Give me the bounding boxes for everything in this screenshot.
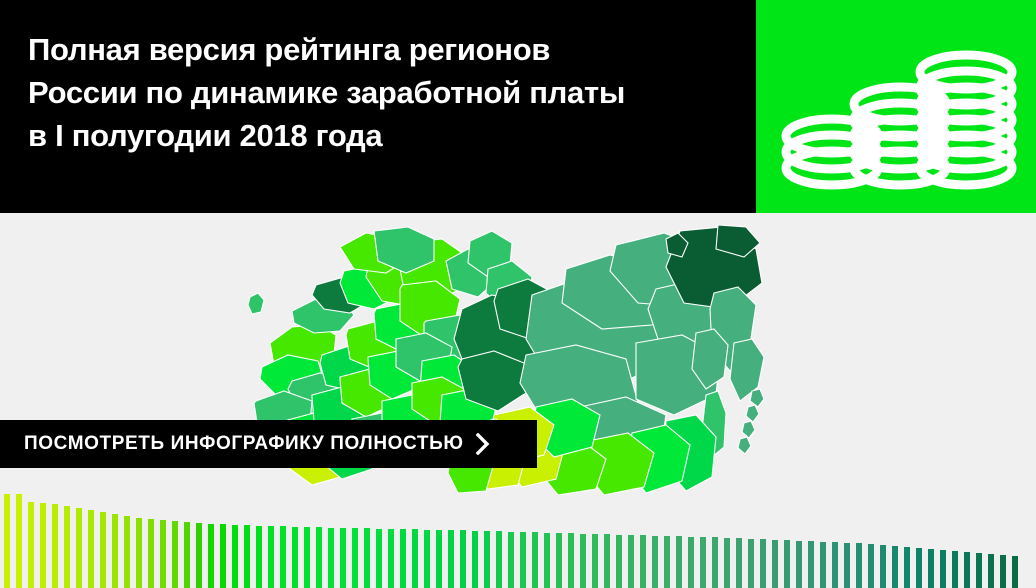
chart-bar: [280, 526, 286, 588]
chart-bar: [172, 521, 178, 588]
chart-bar: [232, 525, 238, 588]
chart-bar: [544, 533, 550, 588]
chart-bar: [88, 510, 94, 588]
chart-bar: [616, 535, 622, 588]
promo-card: Полная версия рейтинга регионов России п…: [0, 0, 1036, 588]
chart-bar: [808, 541, 814, 588]
chart-bar: [736, 538, 742, 588]
chart-bar: [4, 494, 10, 588]
chart-bar: [628, 535, 634, 588]
chart-bar: [796, 541, 802, 588]
page-title: Полная версия рейтинга регионов России п…: [28, 28, 728, 157]
chart-bar: [124, 516, 130, 588]
chart-bar: [292, 527, 298, 588]
chart-bar: [532, 532, 538, 588]
chart-bar: [1000, 555, 1006, 588]
chart-bar: [328, 528, 334, 588]
chart-bar: [184, 522, 190, 588]
chart-bar: [400, 529, 406, 588]
chart-bar: [100, 512, 106, 588]
chart-bar: [748, 539, 754, 588]
chart-bar: [508, 532, 514, 588]
chart-bar: [916, 548, 922, 588]
chart-bar: [724, 538, 730, 588]
chart-bar: [352, 528, 358, 588]
chart-bar: [892, 546, 898, 588]
chart-bar: [364, 528, 370, 588]
chart-bar: [316, 527, 322, 588]
chart-bar: [988, 554, 994, 588]
chart-bar: [712, 537, 718, 588]
chart-bar: [760, 539, 766, 588]
chart-bar: [304, 527, 310, 588]
ranking-bar-chart: [0, 480, 1036, 588]
view-full-infographic-button[interactable]: ПОСМОТРЕТЬ ИНФОГРАФИКУ ПОЛНОСТЬЮ: [0, 420, 537, 468]
chart-bar: [868, 544, 874, 588]
chart-bar: [952, 551, 958, 588]
header: Полная версия рейтинга регионов России п…: [0, 0, 1036, 213]
chart-bar: [436, 530, 442, 588]
chart-bar: [688, 537, 694, 588]
chart-bar: [472, 531, 478, 588]
chart-bar: [520, 532, 526, 588]
chart-bar: [772, 540, 778, 588]
chart-bar: [148, 519, 154, 588]
chart-bar: [556, 533, 562, 588]
chevron-right-icon: [476, 433, 490, 455]
chart-bar: [244, 525, 250, 588]
chart-bar: [28, 502, 34, 588]
chart-bar: [136, 518, 142, 588]
chart-bar: [388, 529, 394, 588]
chart-bar: [664, 536, 670, 588]
chart-bar: [412, 529, 418, 588]
chart-bar: [700, 537, 706, 588]
chart-bar: [448, 530, 454, 588]
chart-bar: [64, 506, 70, 588]
chart-bar: [784, 540, 790, 588]
chart-bar: [1012, 556, 1018, 588]
chart-bar: [52, 504, 58, 588]
chart-bar: [976, 553, 982, 588]
chart-bar: [940, 550, 946, 588]
chart-bar: [268, 526, 274, 588]
chart-bar: [580, 534, 586, 588]
chart-bar: [160, 520, 166, 588]
chart-bar: [40, 503, 46, 588]
chart-bar: [340, 528, 346, 588]
chart-bar: [376, 529, 382, 588]
chart-bar: [424, 530, 430, 588]
chart-bar: [832, 542, 838, 588]
chart-bar: [676, 536, 682, 588]
russia-map: ПОСМОТРЕТЬ ИНФОГРАФИКУ ПОЛНОСТЬЮ: [0, 213, 1036, 495]
chart-bar: [496, 531, 502, 588]
chart-bar: [568, 533, 574, 588]
chart-bar: [904, 547, 910, 588]
chart-bar: [16, 494, 22, 588]
chart-bar: [592, 534, 598, 588]
chart-bar: [820, 542, 826, 588]
chart-bar: [256, 526, 262, 588]
chart-bar: [928, 549, 934, 588]
chart-bar: [640, 535, 646, 588]
chart-bar: [112, 514, 118, 588]
cta-label: ПОСМОТРЕТЬ ИНФОГРАФИКУ ПОЛНОСТЬЮ: [24, 433, 464, 455]
chart-bar: [460, 530, 466, 588]
chart-bar: [844, 543, 850, 588]
chart-bar: [220, 524, 226, 588]
coins-stacks-icon: [780, 48, 1020, 193]
chart-bar: [856, 543, 862, 588]
chart-bar: [652, 536, 658, 588]
chart-bar: [880, 545, 886, 588]
chart-bar: [196, 523, 202, 588]
chart-bar: [604, 534, 610, 588]
chart-bar: [208, 524, 214, 588]
chart-bar: [76, 508, 82, 588]
chart-bar: [964, 552, 970, 588]
chart-bar: [484, 531, 490, 588]
